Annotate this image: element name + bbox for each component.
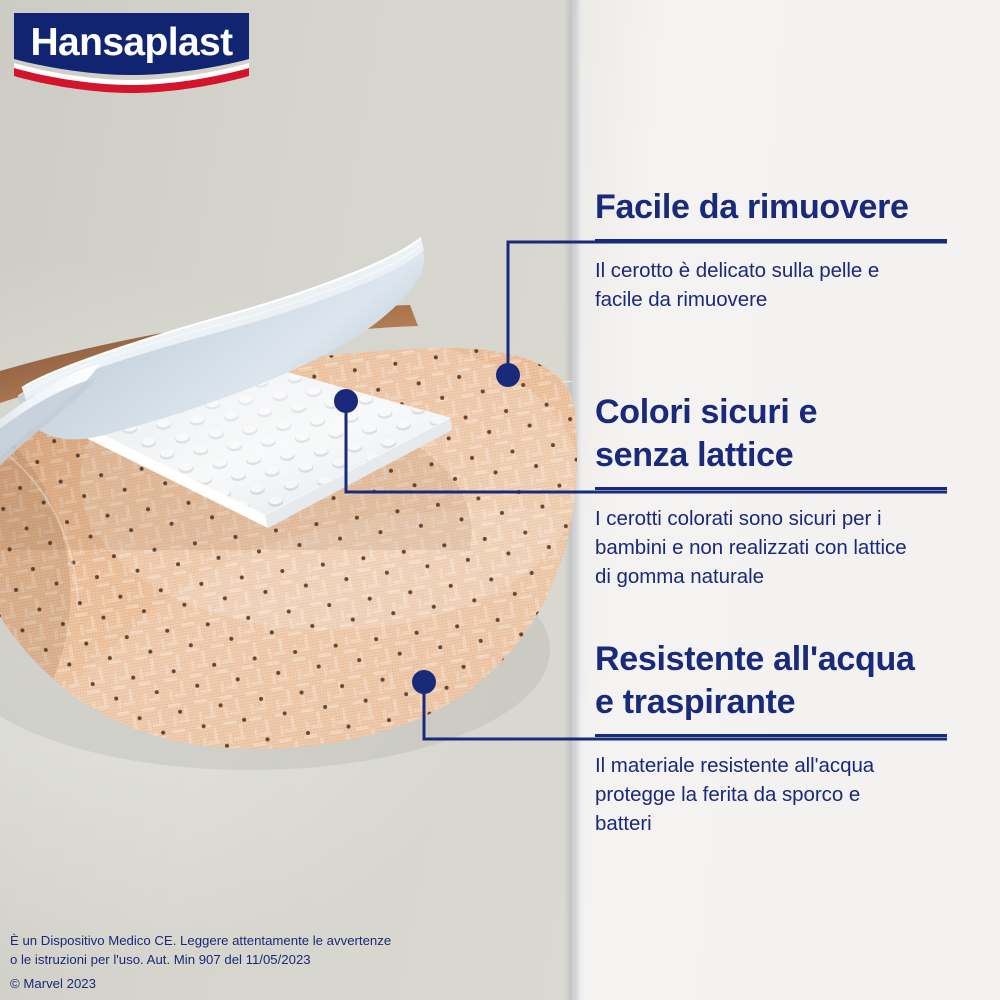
callout-rule-1: [595, 239, 947, 242]
callout-headline-1: Facile da rimuovere: [595, 186, 955, 229]
callout-body-1: Il cerotto è delicato sulla pelle e faci…: [595, 256, 955, 314]
logo-wordmark: Hansaplast: [30, 21, 233, 64]
callout-headline-3: Resistente all'acqua e traspirante: [595, 638, 955, 724]
copyright-notice: © Marvel 2023: [10, 974, 96, 993]
callout-facile-da-rimuovere: Facile da rimuovere Il cerotto è delicat…: [595, 186, 955, 314]
plaster-illustration: [0, 150, 620, 830]
callout-rule-2: [595, 487, 947, 490]
callout-colori-sicuri-e-senza-lattice: Colori sicuri e senza lattice I cerotti …: [595, 391, 955, 591]
callout-resistente-allacqua-e-traspirante: Resistente all'acqua e traspirante Il ma…: [595, 638, 955, 838]
hansaplast-logo: Hansaplast: [12, 11, 251, 93]
legal-disclaimer: È un Dispositivo Medico CE. Leggere atte…: [10, 931, 391, 969]
callout-headline-2: Colori sicuri e senza lattice: [595, 391, 955, 477]
callout-rule-3: [595, 734, 947, 737]
callout-body-3: Il materiale resistente all'acqua proteg…: [595, 751, 955, 838]
advert-canvas: Hansaplast: [0, 0, 1000, 1000]
callout-body-2: I cerotti colorati sono sicuri per i bam…: [595, 504, 955, 591]
